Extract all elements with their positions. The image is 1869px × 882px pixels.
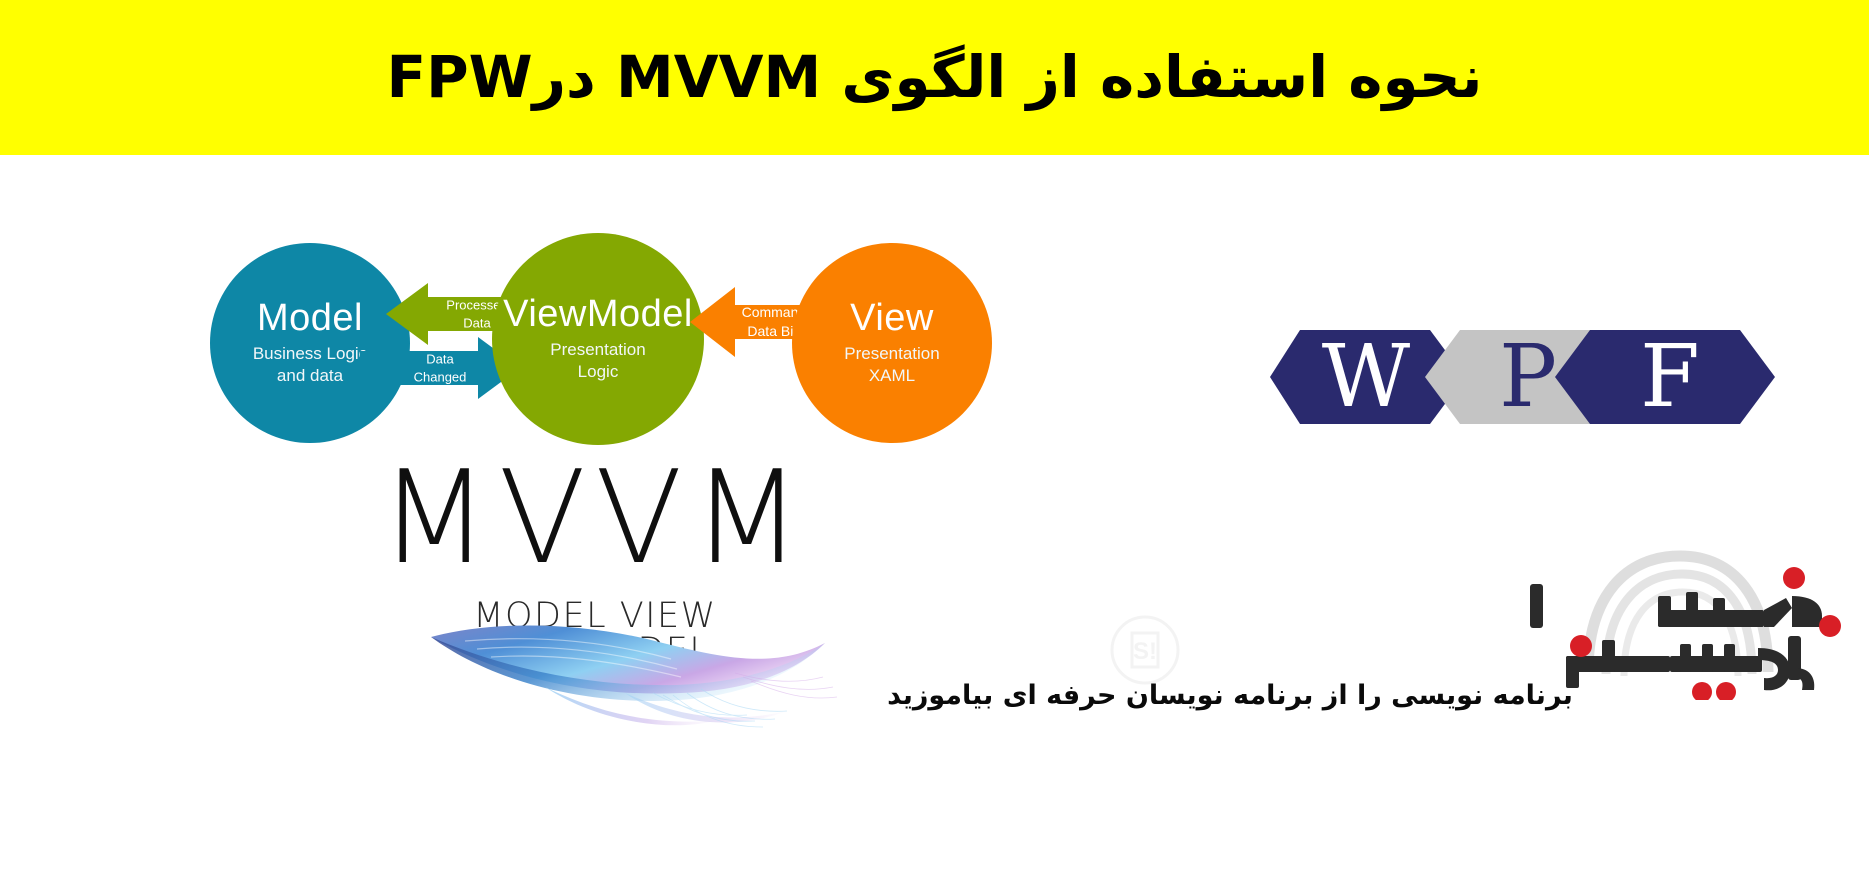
mvvm-acronym: MVVM: [370, 455, 820, 583]
node-model-subtitle-line2: and data: [277, 365, 343, 387]
node-viewmodel-subtitle-line1: Presentation: [550, 339, 645, 361]
brand-logo-shape: [1530, 540, 1850, 700]
wpf-letter-w: W: [1322, 327, 1411, 427]
node-viewmodel-title: ViewModel: [503, 295, 693, 335]
node-view-title: View: [850, 299, 934, 339]
wpf-logo-shape: W P F: [1270, 322, 1790, 432]
wpf-logo: W P F: [1270, 322, 1790, 432]
main-canvas: Model Business Logic and data Data Chang…: [0, 155, 1869, 882]
wpf-letter-f: F: [1640, 327, 1700, 427]
watermark-shape: S!: [1108, 613, 1182, 687]
node-model-subtitle-line1: Business Logic: [253, 343, 367, 365]
svg-text:S!: S!: [1133, 638, 1157, 665]
node-view-subtitle-line1: Presentation: [844, 343, 939, 365]
diagram-node-view: View Presentation XAML: [792, 243, 992, 443]
title-banner: نحوه استفاده از الگوی MVVM درWPF: [0, 0, 1869, 155]
shutterstock-watermark-icon: S!: [1108, 613, 1182, 687]
brand-logo-word-bottom: [1566, 636, 1814, 690]
wpf-letter-p: P: [1499, 327, 1557, 427]
page-title: نحوه استفاده از الگوی MVVM درWPF: [387, 46, 1483, 110]
tagline: برنامه نویسی را از برنامه نویسان حرفه ای…: [860, 680, 1600, 711]
feather-shape: [395, 615, 875, 745]
mvvm-diagram: Model Business Logic and data Data Chang…: [210, 215, 1220, 475]
feather-icon: [395, 615, 875, 745]
node-model-title: Model: [257, 299, 363, 339]
node-view-subtitle-line2: XAML: [869, 365, 915, 387]
brand-logo: [1530, 540, 1850, 700]
diagram-node-viewmodel: ViewModel Presentation Logic: [492, 233, 704, 445]
node-viewmodel-subtitle-line2: Logic: [578, 361, 619, 383]
